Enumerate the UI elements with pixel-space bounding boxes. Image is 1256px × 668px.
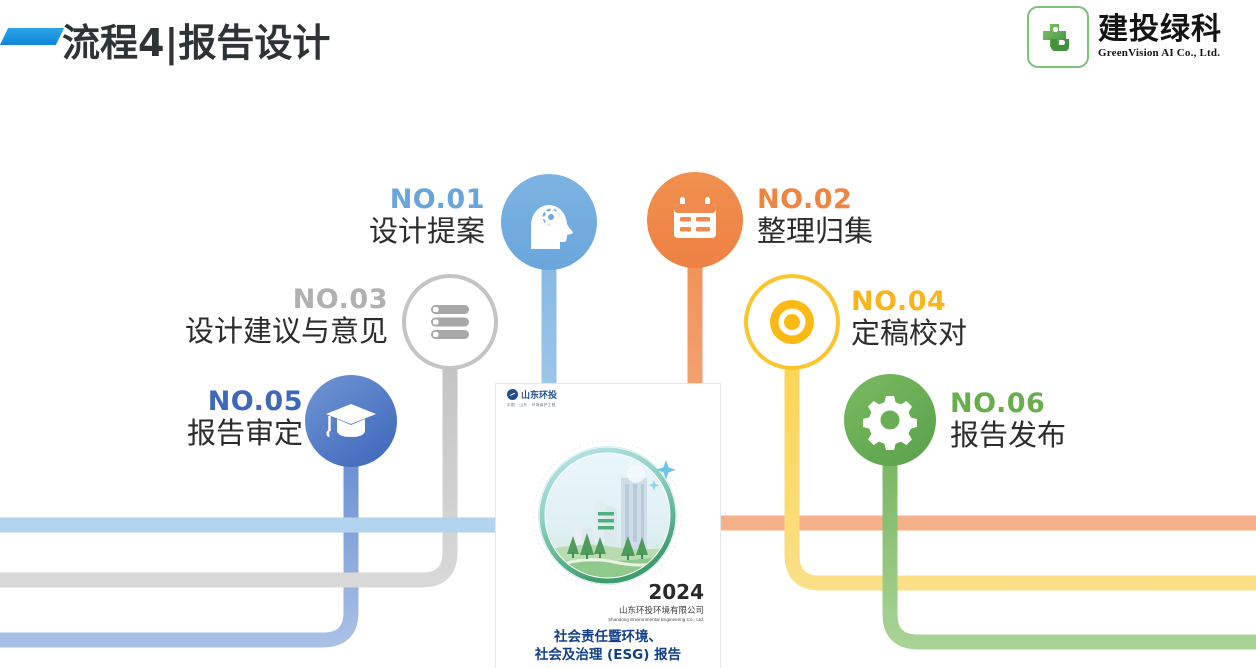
flow-node-06-number: NO.06 (950, 390, 1180, 418)
flow-node-05[interactable] (305, 375, 397, 467)
report-publisher-logo: 山东环投 中国 · 山东 · 环境保护工程 (507, 388, 603, 408)
city-nature-illustration-icon (526, 434, 689, 597)
flow-node-04-number: NO.04 (851, 288, 1081, 316)
flow-node-04-label: NO.04 定稿校对 (851, 288, 1081, 348)
report-title-line2: 社会及治理 (ESG) 报告 (496, 647, 720, 665)
publisher-mark-icon (507, 389, 518, 400)
flow-node-06[interactable] (844, 374, 936, 466)
flow-node-04[interactable] (746, 276, 838, 368)
flow-node-03-text: 设计建议与意见 (130, 317, 388, 347)
flow-node-04-text: 定稿校对 (851, 319, 1081, 349)
flow-node-02-label: NO.02 整理归集 (757, 186, 987, 246)
flow-node-02[interactable] (647, 172, 743, 268)
report-cover-image: 山东环投 中国 · 山东 · 环境保护工程 (495, 383, 721, 668)
flow-node-01-number: NO.01 (255, 186, 485, 214)
gear-icon (863, 396, 917, 450)
flow-node-03[interactable] (404, 276, 496, 368)
report-company-cn: 山东环投环境有限公司 (496, 604, 720, 616)
flow-node-05-number: NO.05 (75, 388, 303, 416)
flow-node-01-text: 设计提案 (255, 217, 485, 247)
flow-node-03-number: NO.03 (130, 286, 388, 314)
publisher-logo-text: 山东环投 (521, 388, 557, 401)
flow-node-03-label: NO.03 设计建议与意见 (130, 286, 388, 346)
report-cover-text: 2024 山东环投环境有限公司 Shandong Environmental E… (496, 582, 720, 668)
flow-node-05-label: NO.05 报告审定 (75, 388, 303, 448)
flow-node-06-label: NO.06 报告发布 (950, 390, 1180, 450)
report-company-en: Shandong Environmental Engineering Co., … (496, 617, 720, 622)
list-lines-icon (431, 305, 469, 339)
report-title: 社会责任暨环境、 社会及治理 (ESG) 报告 (496, 629, 720, 665)
report-title-line1: 社会责任暨环境、 (496, 629, 720, 647)
flow-node-01[interactable] (501, 174, 597, 270)
flow-node-01-label: NO.01 设计提案 (255, 186, 485, 246)
report-year: 2024 (496, 582, 720, 602)
slide-canvas: 流程4|报告设计 建投绿科 Gre (0, 0, 1256, 668)
flow-node-05-text: 报告审定 (75, 419, 303, 449)
flow-node-02-text: 整理归集 (757, 217, 987, 247)
publisher-logo-sub: 中国 · 山东 · 环境保护工程 (507, 403, 603, 408)
donut-chart-icon (770, 300, 814, 344)
flow-node-02-number: NO.02 (757, 186, 987, 214)
flow-node-06-text: 报告发布 (950, 421, 1180, 451)
